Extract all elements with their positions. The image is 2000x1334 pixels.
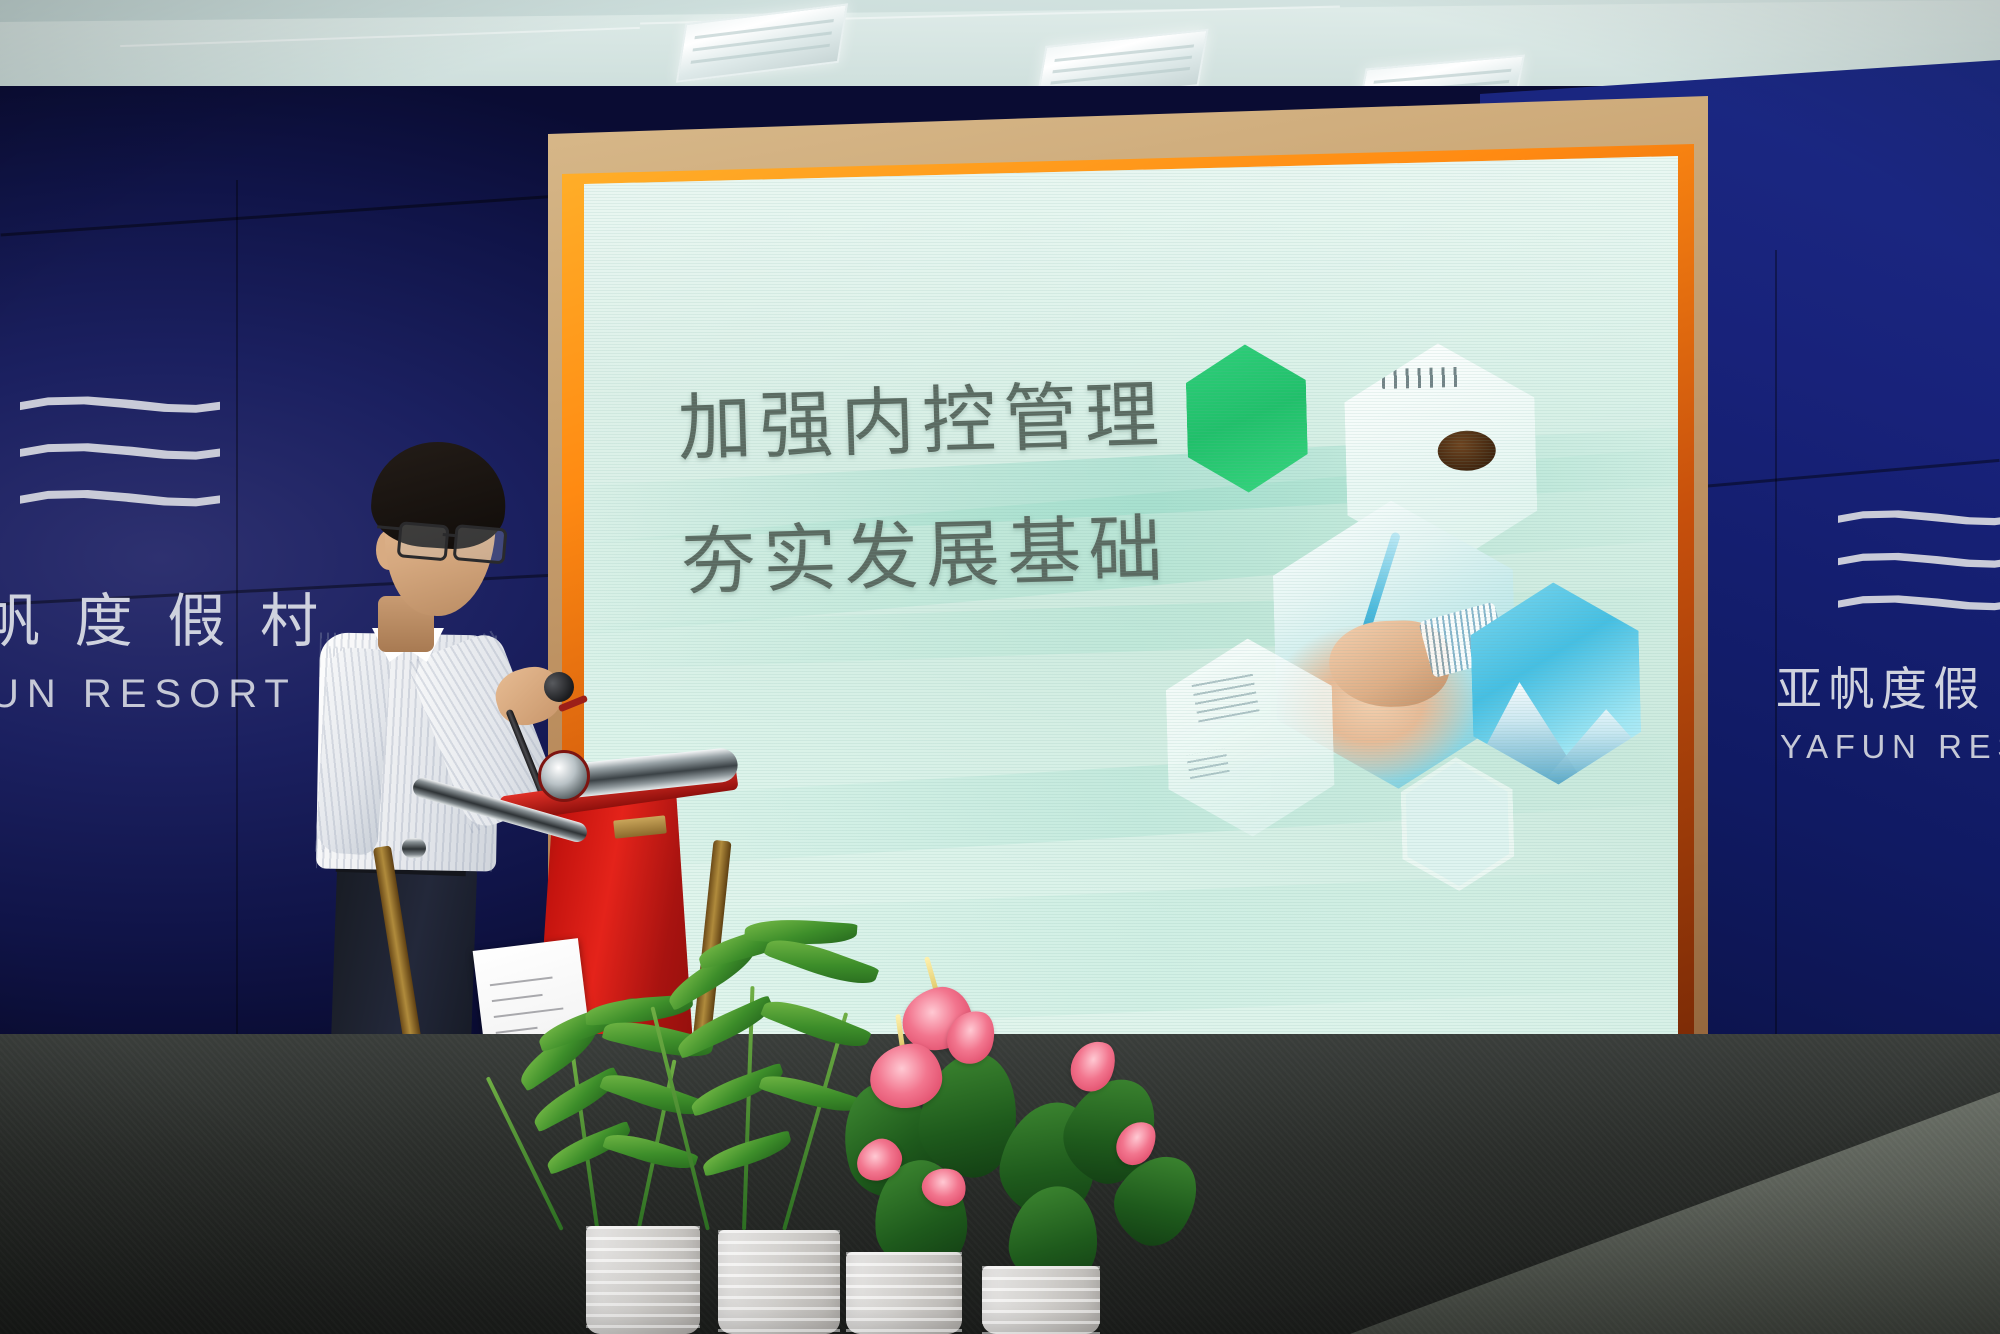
hexagon-green-icon — [1185, 343, 1309, 494]
slide-hexagon-collage — [1175, 328, 1669, 900]
podium-knob — [538, 750, 590, 802]
photo-scene: 帆 度 假 村 UN RESORT 亚帆度假 YAFUN RESO 加强内控管理… — [0, 0, 2000, 1334]
slide-title-line-2: 夯实发展基础 — [680, 494, 1171, 620]
plant-pot — [718, 1230, 840, 1334]
slide-title-line-1: 加强内控管理 — [676, 359, 1167, 485]
presentation-slide: 加强内控管理 夯实发展基础 — [584, 156, 1678, 1128]
podium-rail — [402, 838, 426, 858]
projection-screen-assembly: 加强内控管理 夯实发展基础 — [548, 96, 1708, 1156]
brand-name-en-left: UN RESORT — [0, 672, 297, 717]
brand-name-cn-left: 帆 度 假 村 — [0, 592, 326, 650]
brand-wave-logo-right — [1838, 510, 2000, 628]
plant-pot — [846, 1252, 962, 1334]
coffee-cup-icon — [1437, 430, 1496, 472]
brand-name-en-right: YAFUN RESO — [1780, 728, 2000, 766]
glasses-lens — [453, 524, 508, 564]
brand-wave-logo-left — [20, 396, 220, 526]
plant-pot — [982, 1266, 1100, 1334]
notebook-spiral-icon — [1382, 367, 1462, 389]
slide-title: 加强内控管理 夯实发展基础 — [676, 359, 1172, 641]
glasses-lens — [397, 521, 450, 561]
plant-pot — [586, 1226, 700, 1334]
brand-name-cn-right: 亚帆度假 — [1776, 666, 1986, 712]
